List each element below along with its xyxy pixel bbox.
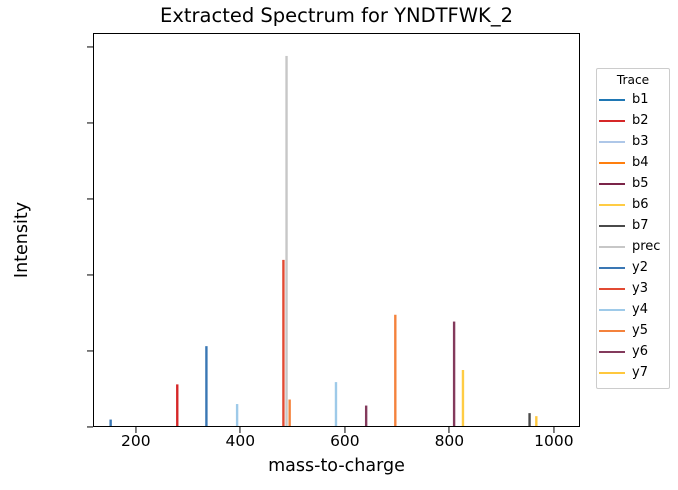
chart-title: Extracted Spectrum for YNDTFWK_2 <box>93 4 580 27</box>
legend-item-label: y4 <box>632 303 648 316</box>
legend-swatch-icon <box>599 120 625 122</box>
legend-item-b4[interactable]: b4 <box>597 152 669 173</box>
legend-swatch-icon <box>599 330 625 332</box>
legend-item-label: b2 <box>632 114 649 127</box>
legend-item-label: b3 <box>632 135 649 148</box>
legend-item-label: y5 <box>632 324 648 337</box>
legend-item-y2[interactable]: y2 <box>597 257 669 278</box>
spectrum-peak <box>288 400 290 426</box>
spectrum-peak <box>335 382 337 426</box>
x-tick-label: 800 <box>435 432 465 450</box>
legend: Trace b1b2b3b4b5b6b7precy2y3y4y5y6y7 <box>596 68 670 389</box>
legend-swatch-icon <box>599 267 625 269</box>
y-tick-mark <box>87 274 93 275</box>
x-tick-label: 1000 <box>534 432 573 450</box>
legend-swatch-icon <box>599 225 625 227</box>
legend-item-y7[interactable]: y7 <box>597 362 669 383</box>
spectrum-peak <box>365 406 367 426</box>
legend-swatch-icon <box>599 288 625 290</box>
legend-item-y3[interactable]: y3 <box>597 278 669 299</box>
y-axis-label: Intensity <box>12 140 32 340</box>
plot-area <box>93 33 580 427</box>
legend-swatch-icon <box>599 246 625 248</box>
legend-swatch-icon <box>599 99 625 101</box>
spectrum-peak <box>462 370 464 426</box>
legend-item-b3[interactable]: b3 <box>597 131 669 152</box>
spectrum-peak <box>528 413 530 426</box>
legend-swatch-icon <box>599 351 625 353</box>
legend-swatch-icon <box>599 183 625 185</box>
legend-item-y5[interactable]: y5 <box>597 320 669 341</box>
y-tick-mark <box>87 350 93 351</box>
legend-item-b2[interactable]: b2 <box>597 110 669 131</box>
legend-entries: b1b2b3b4b5b6b7precy2y3y4y5y6y7 <box>597 89 669 383</box>
legend-item-y4[interactable]: y4 <box>597 299 669 320</box>
spectrum-peak <box>535 416 537 426</box>
y-tick-mark <box>87 46 93 47</box>
legend-item-b5[interactable]: b5 <box>597 173 669 194</box>
y-tick-mark <box>87 122 93 123</box>
legend-swatch-icon <box>599 141 625 143</box>
legend-item-label: y7 <box>632 366 648 379</box>
legend-swatch-icon <box>599 372 625 374</box>
legend-item-y6[interactable]: y6 <box>597 341 669 362</box>
spectrum-peak <box>109 420 111 426</box>
legend-item-label: b5 <box>632 177 649 190</box>
legend-item-label: b7 <box>632 219 649 232</box>
legend-item-label: prec <box>632 240 660 253</box>
legend-item-label: b1 <box>632 93 649 106</box>
legend-swatch-icon <box>599 204 625 206</box>
legend-item-label: y6 <box>632 345 648 358</box>
spectrum-peak <box>176 384 178 426</box>
legend-swatch-icon <box>599 162 625 164</box>
spectrum-peak <box>394 315 396 426</box>
x-tick-label: 200 <box>121 432 151 450</box>
spectrum-peak <box>285 56 287 426</box>
spectrum-peak <box>205 346 207 426</box>
legend-swatch-icon <box>599 309 625 311</box>
x-tick-label: 400 <box>226 432 256 450</box>
y-tick-mark <box>87 198 93 199</box>
legend-item-b7[interactable]: b7 <box>597 215 669 236</box>
spectrum-figure: Extracted Spectrum for YNDTFWK_2 0100020… <box>0 0 678 490</box>
x-tick-label: 600 <box>330 432 360 450</box>
spectrum-peak <box>282 260 284 426</box>
peaks-layer <box>94 34 579 426</box>
legend-item-b1[interactable]: b1 <box>597 89 669 110</box>
y-tick-mark <box>87 426 93 427</box>
spectrum-peak <box>236 404 238 426</box>
legend-item-b6[interactable]: b6 <box>597 194 669 215</box>
legend-item-label: b4 <box>632 156 649 169</box>
spectrum-peak <box>453 322 455 426</box>
legend-item-prec[interactable]: prec <box>597 236 669 257</box>
legend-item-label: b6 <box>632 198 649 211</box>
legend-title: Trace <box>597 73 669 89</box>
x-axis-label: mass-to-charge <box>93 456 580 476</box>
legend-item-label: y3 <box>632 282 648 295</box>
legend-item-label: y2 <box>632 261 648 274</box>
